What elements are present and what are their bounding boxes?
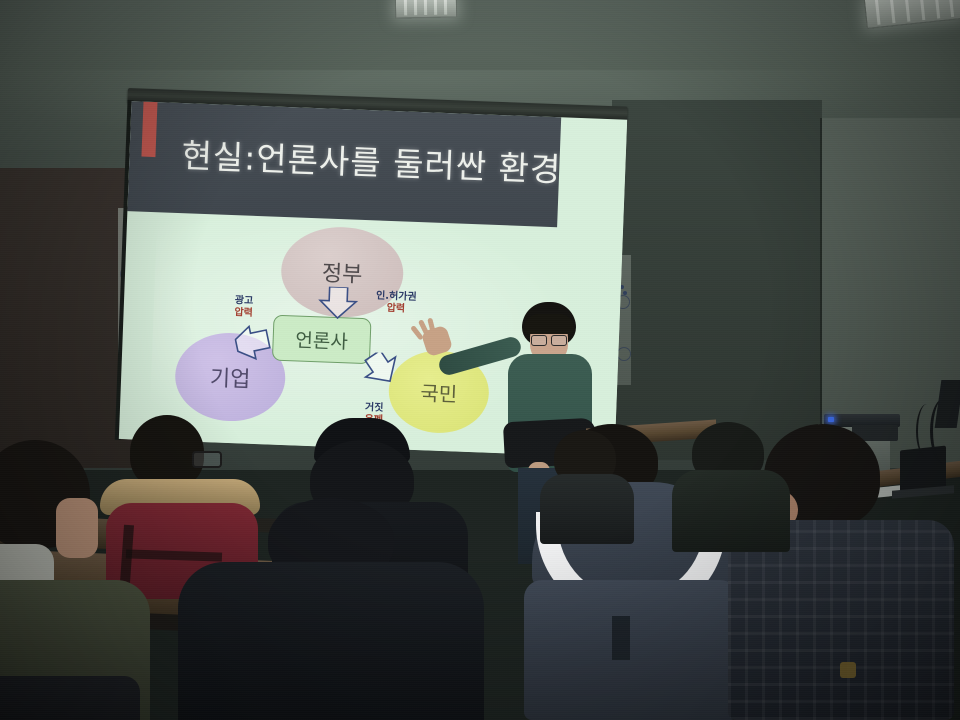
bag — [0, 676, 140, 720]
diagram-node-media-company: 언론사 — [272, 315, 372, 365]
student-front-left — [178, 498, 488, 720]
student-back-right — [672, 422, 792, 542]
jacket — [540, 474, 634, 544]
student-mid-right — [540, 430, 636, 530]
parka-center-seam — [612, 616, 630, 660]
power-led-icon — [828, 417, 834, 422]
student-far-left — [0, 440, 160, 720]
ceiling-light-icon — [395, 0, 457, 19]
slide-accent-bar — [141, 102, 157, 157]
label-licensing-pressure: 인.허가권 압력 — [366, 290, 427, 316]
arrow-corporation-to-media — [234, 323, 273, 362]
arrow-media-to-public — [361, 352, 407, 396]
dark-jacket — [178, 562, 484, 720]
arrow-government-to-media — [317, 286, 358, 319]
glasses-icon — [192, 451, 222, 468]
wall-corner — [820, 118, 822, 468]
jacket — [672, 470, 790, 552]
right-wall-dark — [612, 100, 822, 460]
glasses-icon — [531, 335, 567, 344]
presenter-fringe — [524, 314, 574, 334]
label-advertising-pressure: 광고 압력 — [221, 295, 266, 321]
lecture-hall-photo: 현실:언론사를 둘러싼 환경 정부 기업 국민 언론사 — [0, 0, 960, 720]
parka-body — [524, 580, 738, 720]
ear-profile — [56, 498, 98, 558]
badge — [840, 662, 856, 678]
